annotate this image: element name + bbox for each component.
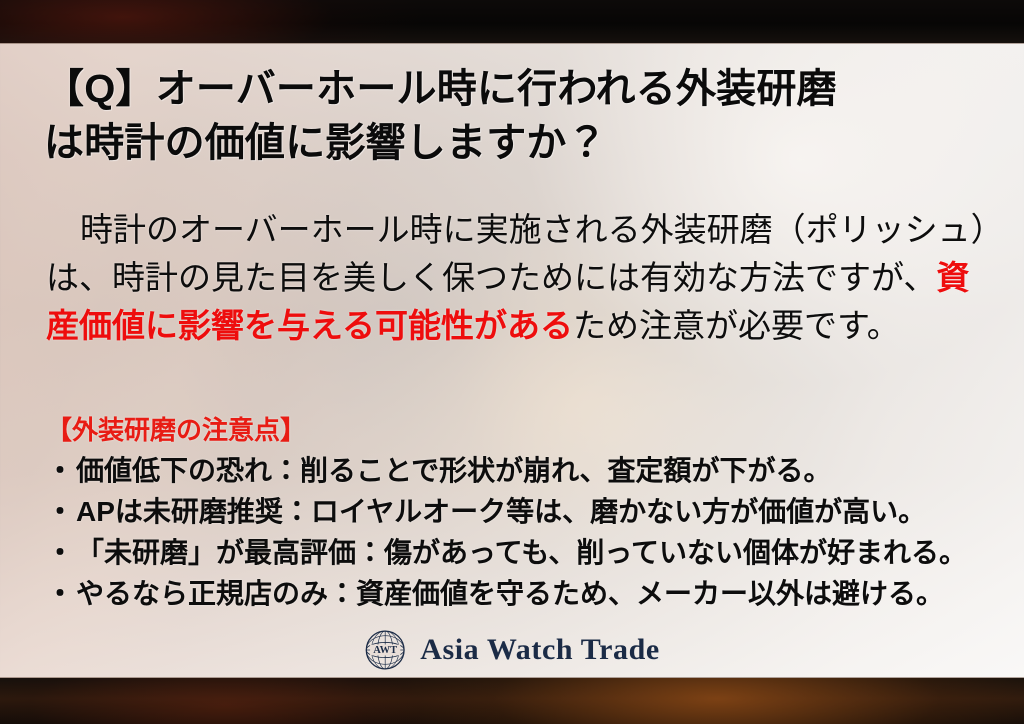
headline-line-1: 【Q】オーバーホール時に行われる外装研磨: [44, 67, 837, 111]
answer-paragraph: 時計のオーバーホール時に実施される外装研磨（ポリッシュ）は、時計の見た目を美しく…: [46, 206, 998, 350]
list-item: ・ やるなら正規店のみ：資産価値を守るため、メーカー以外は避ける。: [46, 573, 1002, 614]
brand-logo-lockup: AWT Asia Watch Trade: [364, 629, 660, 671]
answer-text-part-2: ため注意が必要です。: [573, 307, 900, 344]
slide-content: 【Q】オーバーホール時に行われる外装研磨 は時計の価値に影響しますか？ 時計のオ…: [0, 0, 1024, 724]
list-item: ・ 価値低下の恐れ：削ることで形状が崩れ、査定額が下がる。: [46, 450, 1002, 491]
bullet-icon: ・: [46, 532, 74, 573]
bullet-icon: ・: [46, 491, 74, 532]
headline-line-2: は時計の価値に影響しますか？: [44, 121, 607, 165]
slide-canvas: 【Q】オーバーホール時に行われる外装研磨 は時計の価値に影響しますか？ 時計のオ…: [0, 0, 1024, 724]
list-item-label: APは未研磨推奨：ロイヤルオーク等は、磨かない方が価値が高い。: [76, 491, 926, 532]
caution-notes-list: ・ 価値低下の恐れ：削ることで形状が崩れ、査定額が下がる。 ・ APは未研磨推奨…: [46, 450, 1002, 614]
caution-notes-title: 【外装研磨の注意点】: [46, 414, 1002, 446]
list-item-label: やるなら正規店のみ：資産価値を守るため、メーカー以外は避ける。: [76, 573, 944, 614]
answer-text-part-1: 時計のオーバーホール時に実施される外装研磨（ポリッシュ）は、時計の見た目を美しく…: [46, 211, 987, 296]
globe-icon: AWT: [364, 629, 406, 671]
logo-wordmark: Asia Watch Trade: [420, 633, 660, 667]
list-item: ・ APは未研磨推奨：ロイヤルオーク等は、磨かない方が価値が高い。: [46, 491, 1002, 532]
list-item: ・ 「未研磨」が最高評価：傷があっても、削っていない個体が好まれる。: [46, 532, 1002, 573]
bullet-icon: ・: [46, 450, 74, 491]
list-item-label: 価値低下の恐れ：削ることで形状が崩れ、査定額が下がる。: [76, 450, 831, 491]
question-headline: 【Q】オーバーホール時に行われる外装研磨 は時計の価値に影響しますか？: [44, 62, 1002, 170]
caution-notes-block: 【外装研磨の注意点】 ・ 価値低下の恐れ：削ることで形状が崩れ、査定額が下がる。…: [46, 414, 1002, 614]
bullet-icon: ・: [46, 573, 74, 614]
logo-monogram: AWT: [373, 645, 397, 656]
list-item-label: 「未研磨」が最高評価：傷があっても、削っていない個体が好まれる。: [76, 532, 967, 573]
